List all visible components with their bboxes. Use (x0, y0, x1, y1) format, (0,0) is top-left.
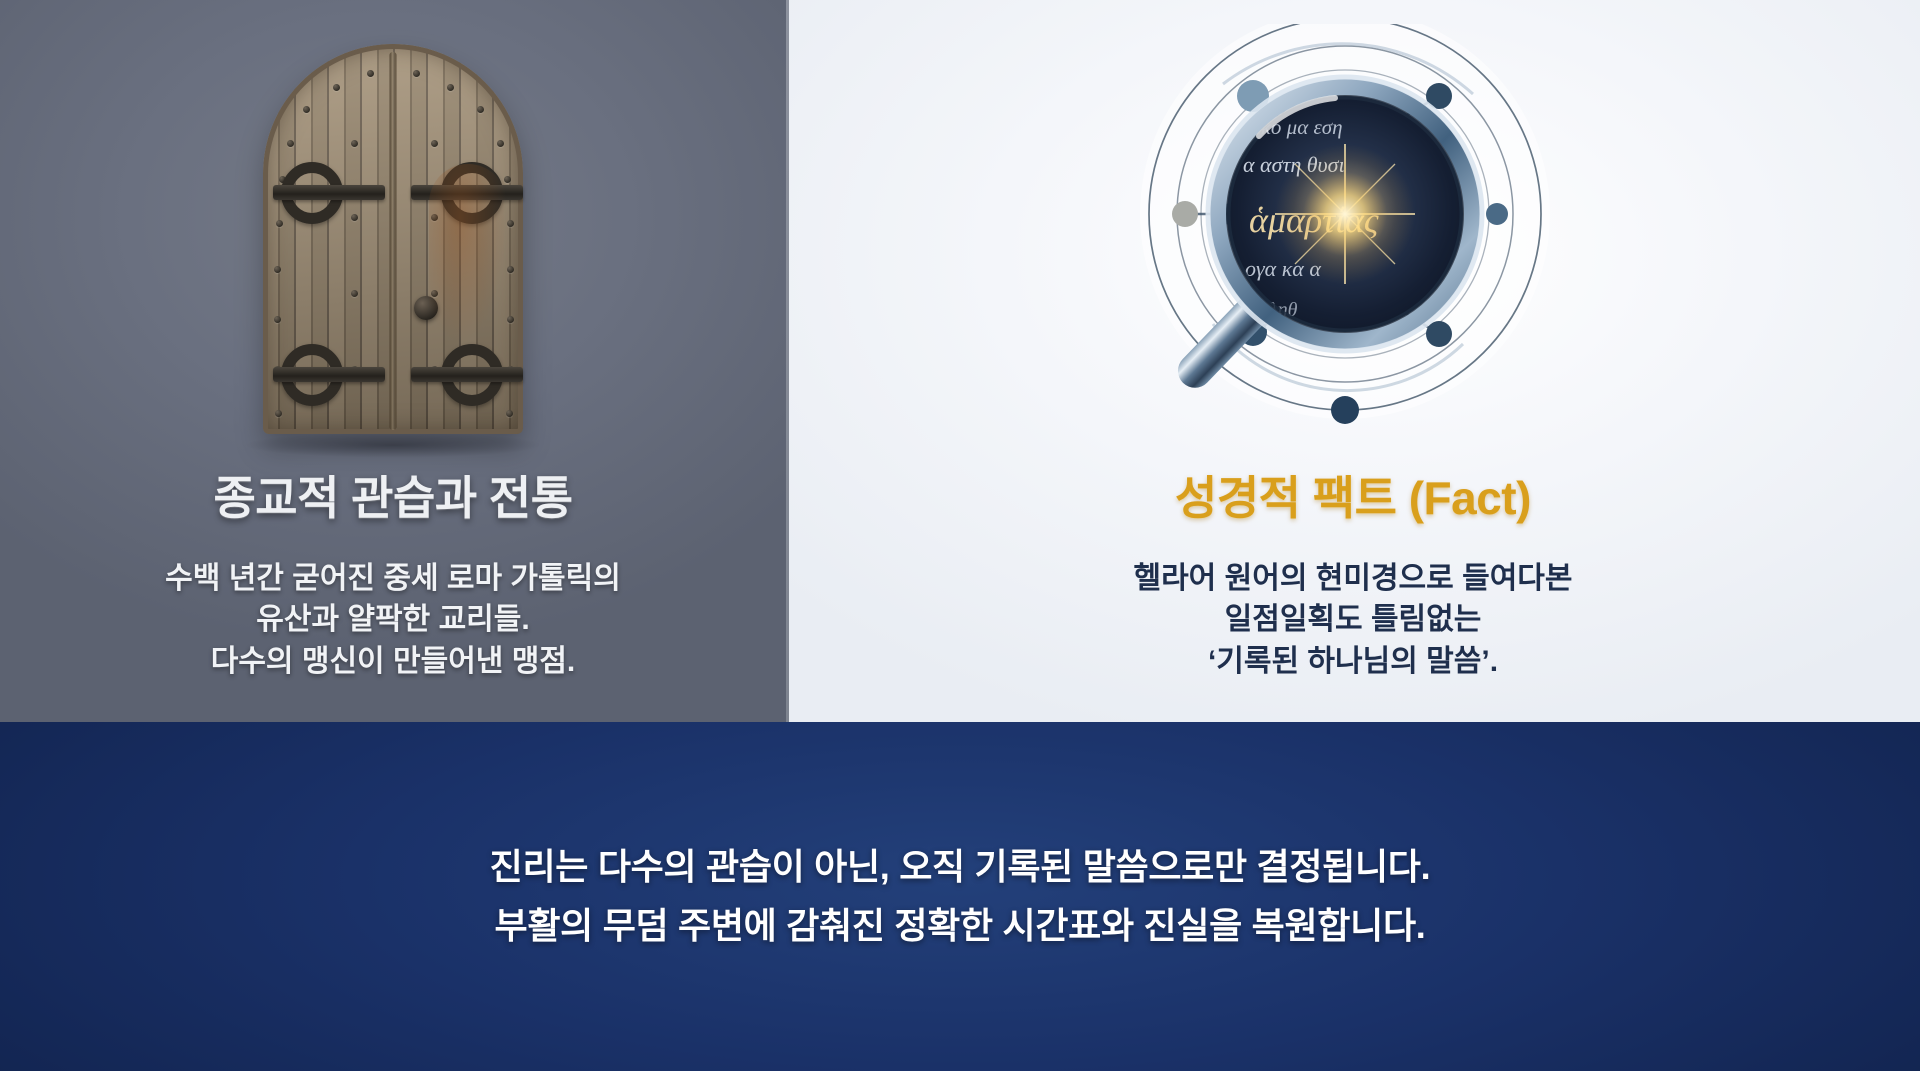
hinge-strap-lower-right (411, 367, 523, 382)
left-panel-tradition: 종교적 관습과 전통 수백 년간 굳어진 중세 로마 가톨릭의 유산과 얄팍한 … (0, 0, 786, 722)
left-panel-body: 수백 년간 굳어진 중세 로마 가톨릭의 유산과 얄팍한 교리들. 다수의 맹신… (0, 558, 786, 682)
banner-line-1: 진리는 다수의 관습이 아닌, 오직 기록된 말씀으로만 결정됩니다. (490, 838, 1431, 896)
right-panel-fact: ικο μα εση α αστη θυσι ἁμαρτίας ογα κα α… (786, 0, 1920, 722)
bottom-caption-banner: 진리는 다수의 관습이 아닌, 오직 기록된 말씀으로만 결정됩니다. 부활의 … (0, 722, 1920, 1071)
left-body-line-1: 수백 년간 굳어진 중세 로마 가톨릭의 (0, 558, 786, 599)
banner-line-2: 부활의 무덤 주변에 감춰진 정확한 시간표와 진실을 복원합니다. (495, 897, 1426, 955)
right-panel-body: 헬라어 원어의 현미경으로 들여다본 일점일획도 틀림없는 ‘기록된 하나님의 … (786, 558, 1920, 682)
door-center-seam (390, 52, 397, 430)
left-panel-title: 종교적 관습과 전통 (0, 462, 786, 528)
door-illustration (0, 0, 786, 470)
right-body-line-2: 일점일획도 틀림없는 (786, 599, 1920, 640)
slide-canvas: 종교적 관습과 전통 수백 년간 굳어진 중세 로마 가톨릭의 유산과 얄팍한 … (0, 0, 1920, 1071)
panel-divider (786, 0, 789, 722)
hinge-strap-upper-right (411, 185, 523, 200)
wooden-door-icon (263, 44, 523, 434)
hinge-strap-upper-left (273, 185, 385, 200)
comparison-panels: 종교적 관습과 전통 수백 년간 굳어진 중세 로마 가톨릭의 유산과 얄팍한 … (0, 0, 1920, 722)
magnifying-glass-icon: ικο μα εση α αστη θυσι ἁμαρτίας ογα κα α… (1073, 24, 1633, 454)
left-body-line-3: 다수의 맹신이 만들어낸 맹점. (0, 641, 786, 682)
right-body-line-1: 헬라어 원어의 현미경으로 들여다본 (786, 558, 1920, 599)
hinge-strap-lower-left (273, 367, 385, 382)
right-panel-title: 성경적 팩트 (Fact) (786, 462, 1920, 528)
right-body-line-3: ‘기록된 하나님의 말씀’. (786, 641, 1920, 682)
door-ground-shadow (243, 432, 543, 458)
magnifier-illustration: ικο μα εση α αστη θυσι ἁμαρτίας ογα κα α… (786, 0, 1920, 470)
left-body-line-2: 유산과 얄팍한 교리들. (0, 599, 786, 640)
door-handle-icon (414, 296, 438, 320)
